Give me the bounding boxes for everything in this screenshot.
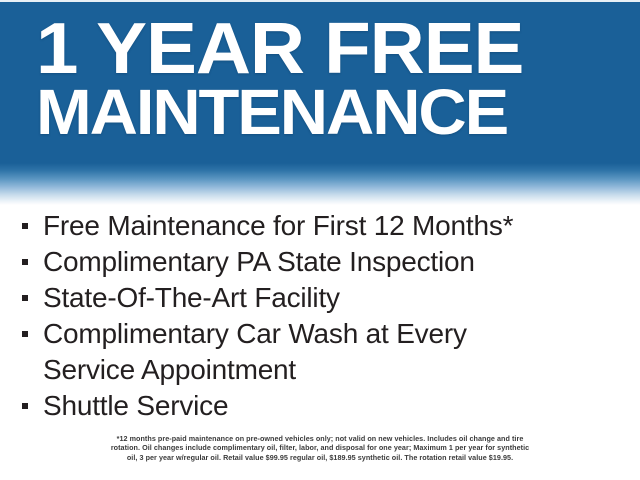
disclaimer-line-1: *12 months pre-paid maintenance on pre-o… bbox=[0, 434, 640, 443]
list-item-label: Shuttle Service bbox=[43, 388, 228, 424]
list-item: Shuttle Service bbox=[0, 388, 640, 424]
list-item-label: Service Appointment bbox=[43, 352, 296, 388]
square-bullet-icon-placeholder bbox=[22, 367, 28, 373]
square-bullet-icon bbox=[22, 259, 28, 265]
list-item-label: Free Maintenance for First 12 Months* bbox=[43, 208, 513, 244]
list-item: Complimentary Car Wash at Every bbox=[0, 316, 640, 352]
list-item: Free Maintenance for First 12 Months* bbox=[0, 208, 640, 244]
list-item: Complimentary PA State Inspection bbox=[0, 244, 640, 280]
promo-flyer: 1 YEAR FREE MAINTENANCE Free Maintenance… bbox=[0, 0, 640, 480]
banner-gradient-fade bbox=[0, 163, 640, 205]
list-item-continuation: Service Appointment bbox=[0, 352, 640, 388]
square-bullet-icon bbox=[22, 403, 28, 409]
disclaimer-line-3: oil, 3 per year w/regular oil. Retail va… bbox=[0, 453, 640, 462]
disclaimer-line-2: rotation. Oil changes include compliment… bbox=[0, 443, 640, 452]
list-item: State-Of-The-Art Facility bbox=[0, 280, 640, 316]
square-bullet-icon bbox=[22, 295, 28, 301]
square-bullet-icon bbox=[22, 223, 28, 229]
feature-list: Free Maintenance for First 12 Months* Co… bbox=[0, 208, 640, 424]
list-item-label: Complimentary Car Wash at Every bbox=[43, 316, 467, 352]
disclaimer-block: *12 months pre-paid maintenance on pre-o… bbox=[0, 434, 640, 462]
headline-block: 1 YEAR FREE MAINTENANCE bbox=[0, 0, 640, 163]
list-item-label: Complimentary PA State Inspection bbox=[43, 244, 475, 280]
list-item-label: State-Of-The-Art Facility bbox=[43, 280, 340, 316]
headline-line-2: MAINTENANCE bbox=[36, 80, 507, 144]
headline-line-1: 1 YEAR FREE bbox=[36, 13, 523, 85]
square-bullet-icon bbox=[22, 331, 28, 337]
